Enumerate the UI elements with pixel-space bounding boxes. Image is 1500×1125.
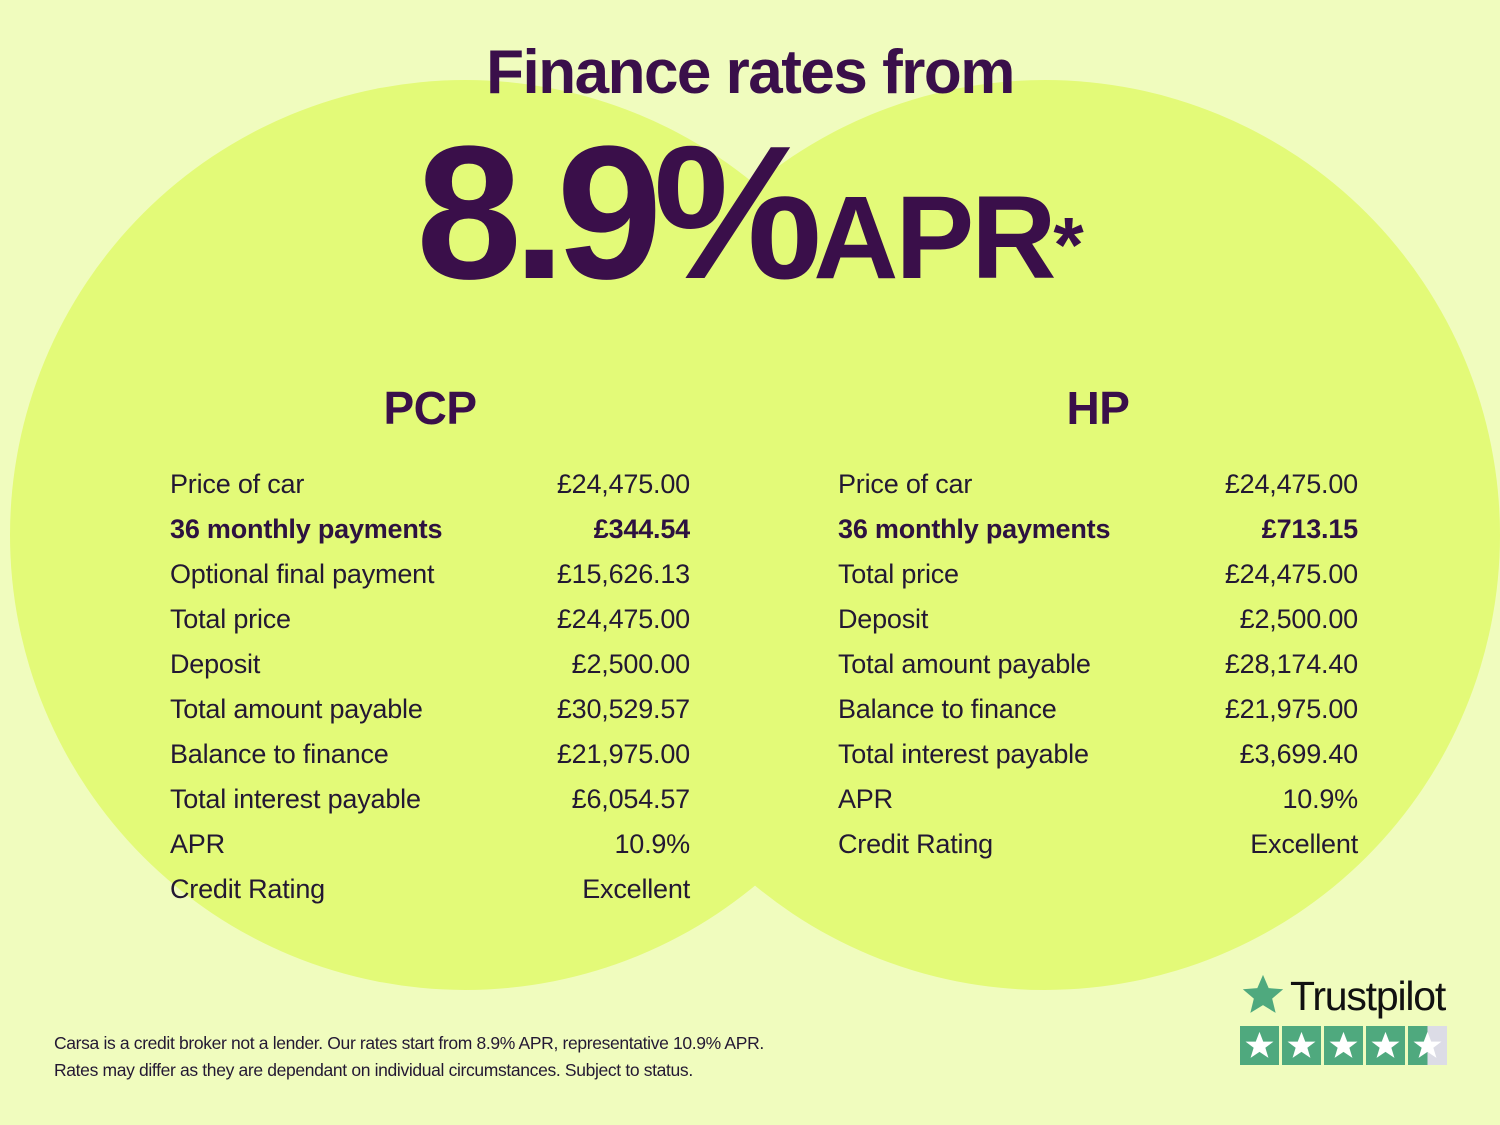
- row-value: £24,475.00: [557, 604, 690, 635]
- row-label: Price of car: [170, 469, 304, 500]
- asterisk-marker: *: [1053, 201, 1083, 289]
- row-label: Balance to finance: [838, 694, 1057, 725]
- trustpilot-wordmark-text: Trustpilot: [1290, 976, 1445, 1017]
- disclaimer-line-2: Rates may differ as they are dependant o…: [54, 1057, 854, 1084]
- row-label: Total interest payable: [838, 739, 1089, 770]
- row-label: Price of car: [838, 469, 972, 500]
- row-value: £28,174.40: [1225, 649, 1358, 680]
- trustpilot-star-icon: [1240, 972, 1286, 1021]
- table-row: Total price£24,475.00: [170, 604, 690, 649]
- row-value: 10.9%: [614, 829, 690, 860]
- apr-headline: 8.9%APR*: [0, 118, 1500, 308]
- row-value: £21,975.00: [557, 739, 690, 770]
- row-label: Total price: [838, 559, 959, 590]
- table-row: Credit RatingExcellent: [170, 874, 690, 919]
- finance-panel-hp: HP Price of car£24,475.0036 monthly paym…: [838, 385, 1358, 874]
- table-row: 36 monthly payments£713.15: [838, 514, 1358, 559]
- trustpilot-star-box: [1240, 1026, 1279, 1065]
- table-row: Price of car£24,475.00: [838, 469, 1358, 514]
- row-label: APR: [838, 784, 893, 815]
- trustpilot-star-box: [1366, 1026, 1405, 1065]
- table-row: Deposit£2,500.00: [838, 604, 1358, 649]
- trustpilot-widget[interactable]: Trustpilot: [1240, 972, 1452, 1065]
- table-row: Price of car£24,475.00: [170, 469, 690, 514]
- finance-rates-graphic: Finance rates from 8.9%APR* PCP Price of…: [0, 0, 1500, 1125]
- table-row: Total price£24,475.00: [838, 559, 1358, 604]
- table-row: Total interest payable£3,699.40: [838, 739, 1358, 784]
- row-value: Excellent: [1250, 829, 1358, 860]
- row-value: 10.9%: [1282, 784, 1358, 815]
- row-label: 36 monthly payments: [838, 514, 1110, 545]
- row-label: APR: [170, 829, 225, 860]
- disclaimer-line-1: Carsa is a credit broker not a lender. O…: [54, 1030, 854, 1057]
- table-row: Optional final payment£15,626.13: [170, 559, 690, 604]
- row-value: £3,699.40: [1240, 739, 1358, 770]
- row-value: £2,500.00: [572, 649, 690, 680]
- table-row: Deposit£2,500.00: [170, 649, 690, 694]
- row-label: Total interest payable: [170, 784, 421, 815]
- trustpilot-rating-stars: [1240, 1026, 1452, 1065]
- table-row: Total amount payable£30,529.57: [170, 694, 690, 739]
- row-label: Credit Rating: [170, 874, 325, 905]
- table-row: 36 monthly payments£344.54: [170, 514, 690, 559]
- trustpilot-star-box: [1282, 1026, 1321, 1065]
- finance-table-pcp: Price of car£24,475.0036 monthly payment…: [170, 469, 690, 919]
- table-row: APR10.9%: [170, 829, 690, 874]
- disclaimer-text: Carsa is a credit broker not a lender. O…: [54, 1030, 854, 1084]
- row-label: Deposit: [838, 604, 928, 635]
- page-title: Finance rates from: [0, 42, 1500, 104]
- row-value: £21,975.00: [1225, 694, 1358, 725]
- table-row: Total amount payable£28,174.40: [838, 649, 1358, 694]
- row-value: £15,626.13: [557, 559, 690, 590]
- row-value: £344.54: [594, 514, 690, 545]
- panel-title-pcp: PCP: [170, 385, 690, 431]
- table-row: Balance to finance£21,975.00: [170, 739, 690, 784]
- row-value: £24,475.00: [1225, 469, 1358, 500]
- table-row: Balance to finance£21,975.00: [838, 694, 1358, 739]
- table-row: Total interest payable£6,054.57: [170, 784, 690, 829]
- row-label: Balance to finance: [170, 739, 389, 770]
- finance-table-hp: Price of car£24,475.0036 monthly payment…: [838, 469, 1358, 874]
- row-label: Total amount payable: [838, 649, 1091, 680]
- trustpilot-logo: Trustpilot: [1240, 972, 1452, 1020]
- row-label: 36 monthly payments: [170, 514, 442, 545]
- apr-rate-value: 8.9%: [416, 107, 813, 319]
- row-label: Credit Rating: [838, 829, 993, 860]
- row-label: Total amount payable: [170, 694, 423, 725]
- row-value: £24,475.00: [1225, 559, 1358, 590]
- trustpilot-star-box: [1324, 1026, 1363, 1065]
- row-value: £6,054.57: [572, 784, 690, 815]
- panel-title-hp: HP: [838, 385, 1358, 431]
- table-row: APR10.9%: [838, 784, 1358, 829]
- apr-label: APR: [813, 172, 1053, 304]
- row-value: £30,529.57: [557, 694, 690, 725]
- row-value: £24,475.00: [557, 469, 690, 500]
- row-label: Optional final payment: [170, 559, 434, 590]
- row-label: Deposit: [170, 649, 260, 680]
- table-row: Credit RatingExcellent: [838, 829, 1358, 874]
- row-value: £2,500.00: [1240, 604, 1358, 635]
- row-value: Excellent: [582, 874, 690, 905]
- finance-panel-pcp: PCP Price of car£24,475.0036 monthly pay…: [170, 385, 690, 919]
- row-label: Total price: [170, 604, 291, 635]
- trustpilot-star-box: [1408, 1026, 1447, 1065]
- row-value: £713.15: [1262, 514, 1358, 545]
